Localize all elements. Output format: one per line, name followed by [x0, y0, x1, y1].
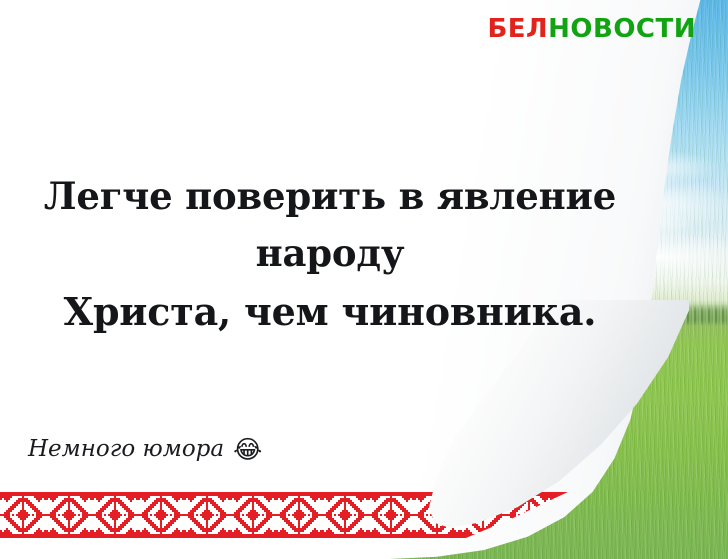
caption: Немного юмора 😂: [28, 437, 262, 462]
belnovosti-logo: БЕЛНОВОСТИ: [487, 16, 696, 42]
logo-text-novosti: НОВОСТИ: [548, 14, 696, 44]
logo-text-bel: БЕЛ: [487, 14, 548, 44]
quote-line-2: Христа, чем чиновника.: [0, 283, 660, 342]
caption-label: Немного юмора: [28, 438, 224, 461]
quote-line-1: Легче поверить в явление народу: [0, 168, 660, 283]
face-with-tears-of-joy-icon: 😂: [233, 437, 262, 462]
image-canvas: БЕЛНОВОСТИ Легче поверить в явление наро…: [0, 0, 728, 559]
quote-text: Легче поверить в явление народу Христа, …: [0, 168, 660, 342]
